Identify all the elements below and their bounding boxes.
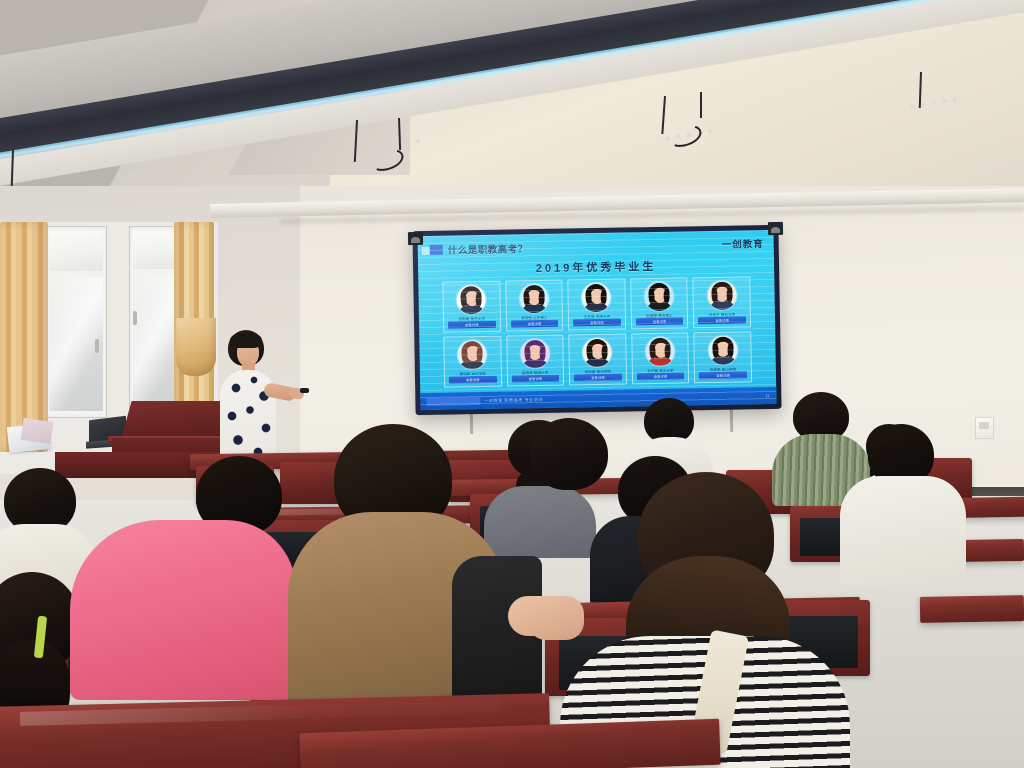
- graduate-card[interactable]: 周明辉 潍坊学院查看详情: [443, 336, 501, 388]
- graduate-detail-label: 查看详情: [465, 322, 479, 327]
- graduate-detail-button[interactable]: 查看详情: [511, 320, 559, 328]
- graduate-detail-button[interactable]: 查看详情: [573, 319, 621, 327]
- graduate-card[interactable]: 赵建国 青岛理工查看详情: [630, 277, 688, 329]
- hanging-cable: [700, 92, 702, 118]
- slide-bullet-icon: [430, 245, 443, 255]
- curtain-tieback[interactable]: [176, 318, 216, 376]
- graduate-detail-label: 查看详情: [529, 376, 543, 381]
- desk-row: [920, 595, 1024, 623]
- window-mullion: [106, 226, 130, 418]
- attendee-head: [530, 418, 608, 490]
- graduate-detail-button[interactable]: 查看详情: [699, 371, 747, 379]
- graduate-detail-button[interactable]: 查看详情: [448, 321, 496, 329]
- graduate-portrait: [644, 282, 674, 312]
- window-pane-top: [49, 231, 103, 271]
- graduate-portrait: [519, 284, 549, 314]
- graduate-detail-label: 查看详情: [590, 320, 604, 325]
- graduate-card[interactable]: 郑丽娜 德州学院查看详情: [568, 333, 626, 385]
- attendee-torso: [484, 486, 596, 558]
- graduate-portrait: [520, 339, 550, 369]
- display-mount-post: [730, 406, 733, 432]
- attendee-torso: [70, 520, 296, 700]
- window-handle[interactable]: [95, 339, 99, 353]
- slide-header-title: 什么是职教高考？: [448, 241, 528, 256]
- graduate-card[interactable]: 王志强 济南大学查看详情: [567, 279, 625, 331]
- graduate-portrait: [708, 336, 738, 366]
- graduate-detail-button[interactable]: 查看详情: [637, 372, 685, 380]
- brand-logo: 一创教育: [722, 236, 764, 251]
- slide-footer: 一创教育 职教高考 专业培训 11: [420, 387, 776, 410]
- graduate-card[interactable]: 张雨晴 青岛大学查看详情: [442, 281, 500, 333]
- presentation-slide: 什么是职教高考？ 一创教育 2019年优秀毕业生 张雨晴 青岛大学查看详情李梦瑶…: [418, 230, 777, 410]
- graduate-portrait: [457, 285, 487, 315]
- graduate-card[interactable]: 陈思雨 泰山学院查看详情: [694, 331, 752, 383]
- graduate-detail-label: 查看详情: [528, 321, 542, 326]
- graduate-detail-button[interactable]: 查看详情: [698, 316, 746, 324]
- presentation-clicker[interactable]: [300, 388, 309, 393]
- graduate-portrait: [583, 338, 613, 368]
- graduate-detail-label: 查看详情: [716, 373, 730, 378]
- graduate-detail-label: 查看详情: [654, 374, 668, 379]
- window-handle[interactable]: [133, 311, 137, 325]
- graduate-card[interactable]: 孙佳宁 烟台大学查看详情: [693, 276, 751, 328]
- footer-text: 一创教育 职教高考 专业培训: [484, 396, 543, 403]
- graduate-portrait: [582, 283, 612, 313]
- graduate-detail-label: 查看详情: [466, 377, 480, 382]
- graduate-detail-button[interactable]: 查看详情: [636, 317, 684, 325]
- lecture-hall-photo: 什么是职教高考？ 一创教育 2019年优秀毕业生 张雨晴 青岛大学查看详情李梦瑶…: [0, 0, 1024, 768]
- papers-on-ledge: [21, 418, 54, 444]
- slide-header: 什么是职教高考？: [430, 241, 528, 257]
- exterior-window: [44, 226, 108, 418]
- graduate-portrait: [458, 340, 488, 370]
- footer-accent-bar: [426, 397, 480, 406]
- slide-page-number: 11: [765, 393, 769, 398]
- graduate-detail-button[interactable]: 查看详情: [574, 374, 622, 382]
- display-speaker-icon: [408, 232, 423, 245]
- graduate-detail-button[interactable]: 查看详情: [449, 376, 497, 384]
- attendee-hand: [508, 596, 580, 636]
- graduate-detail-label: 查看详情: [591, 375, 605, 380]
- graduate-portrait: [645, 337, 675, 367]
- graduate-detail-label: 查看详情: [653, 319, 667, 324]
- display-bezel: 什么是职教高考？ 一创教育 2019年优秀毕业生 张雨晴 青岛大学查看详情李梦瑶…: [412, 225, 781, 415]
- graduate-portrait: [707, 281, 737, 311]
- presenter-hair-front: [230, 332, 262, 348]
- slide-subtitle: 2019年优秀毕业生: [418, 256, 774, 278]
- graduate-card[interactable]: 吴晓燕 聊城大学查看详情: [506, 335, 564, 387]
- graduate-detail-button[interactable]: 查看详情: [512, 375, 560, 383]
- graduates-grid: 张雨晴 青岛大学查看详情李梦瑶 山东理工查看详情王志强 济南大学查看详情赵建国 …: [442, 276, 752, 387]
- wall-mounted-led-display[interactable]: 什么是职教高考？ 一创教育 2019年优秀毕业生 张雨晴 青岛大学查看详情李梦瑶…: [412, 225, 781, 415]
- wall-power-outlet[interactable]: [975, 417, 994, 439]
- graduate-detail-label: 查看详情: [715, 318, 729, 323]
- attendee-torso: [840, 476, 966, 586]
- display-speaker-icon: [768, 222, 783, 235]
- graduate-card[interactable]: 李梦瑶 山东理工查看详情: [505, 280, 563, 332]
- graduate-card[interactable]: 刘子豪 临沂大学查看详情: [631, 332, 689, 384]
